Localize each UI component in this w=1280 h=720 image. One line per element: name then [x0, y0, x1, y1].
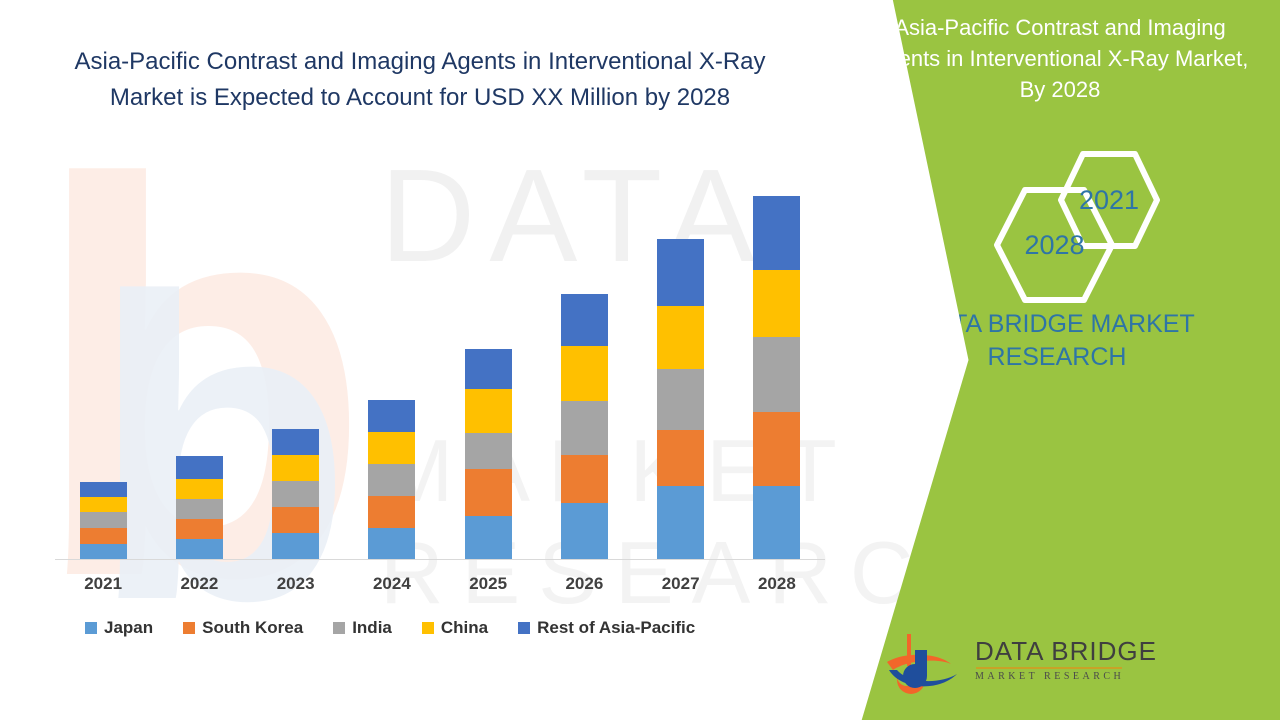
bar-segment-china[interactable] — [465, 389, 512, 433]
bar-group-2027 — [633, 161, 729, 560]
hexagon-group: 2021 2028 — [835, 150, 1280, 285]
stacked-bar[interactable] — [753, 196, 800, 560]
bar-group-2021 — [55, 161, 151, 560]
plot-area — [55, 160, 825, 560]
bar-segment-india[interactable] — [368, 464, 415, 496]
data-bridge-logo: DATA BRIDGE MARKET RESEARCH — [885, 630, 1115, 700]
stacked-bar[interactable] — [561, 294, 608, 560]
bar-segment-japan[interactable] — [561, 503, 608, 560]
bar-segment-india[interactable] — [272, 481, 319, 507]
stacked-bar[interactable] — [465, 349, 512, 560]
bar-group-2025 — [440, 161, 536, 560]
logo-divider — [976, 667, 1122, 669]
legend-item-india[interactable]: India — [333, 618, 392, 638]
bar-segment-india[interactable] — [561, 401, 608, 455]
stacked-bar[interactable] — [368, 400, 415, 560]
x-tick-2022: 2022 — [151, 574, 247, 594]
x-tick-2028: 2028 — [729, 574, 825, 594]
logo-text-block: DATA BRIDGE MARKET RESEARCH — [975, 636, 1125, 682]
bar-segment-india[interactable] — [753, 337, 800, 412]
bar-segment-china[interactable] — [753, 270, 800, 337]
bar-segment-china[interactable] — [272, 455, 319, 481]
legend-label: Japan — [104, 618, 153, 638]
bar-segment-india[interactable] — [176, 499, 223, 519]
bar-segment-rest-of-asia-pacific[interactable] — [561, 294, 608, 346]
legend-label: Rest of Asia-Pacific — [537, 618, 695, 638]
bar-group-2028 — [729, 161, 825, 560]
legend-swatch-icon — [183, 622, 195, 634]
legend-swatch-icon — [422, 622, 434, 634]
bar-segment-south-korea[interactable] — [368, 496, 415, 528]
chart-title: Asia-Pacific Contrast and Imaging Agents… — [60, 44, 780, 116]
stacked-bar[interactable] — [80, 482, 127, 560]
bar-segment-japan[interactable] — [80, 544, 127, 560]
panel-title: Asia-Pacific Contrast and Imaging Agents… — [860, 12, 1260, 105]
chart-legend: JapanSouth KoreaIndiaChinaRest of Asia-P… — [85, 615, 805, 641]
bar-segment-japan[interactable] — [272, 533, 319, 560]
legend-item-japan[interactable]: Japan — [85, 618, 153, 638]
bar-group-2026 — [536, 161, 632, 560]
logo-tagline: MARKET RESEARCH — [975, 671, 1125, 682]
legend-label: China — [441, 618, 488, 638]
x-axis-tick-labels: 20212022202320242025202620272028 — [55, 570, 825, 598]
bar-segment-china[interactable] — [561, 346, 608, 401]
bar-segment-rest-of-asia-pacific[interactable] — [80, 482, 127, 497]
stacked-bar[interactable] — [272, 429, 319, 560]
bar-segment-japan[interactable] — [368, 528, 415, 560]
bar-segment-japan[interactable] — [176, 539, 223, 560]
bar-group-2024 — [344, 161, 440, 560]
hexagon-2021-label: 2021 — [1079, 185, 1139, 216]
bar-segment-china[interactable] — [176, 479, 223, 499]
x-axis-line — [55, 559, 825, 560]
x-tick-2024: 2024 — [344, 574, 440, 594]
bar-segment-south-korea[interactable] — [657, 430, 704, 486]
x-tick-2026: 2026 — [536, 574, 632, 594]
bar-segment-india[interactable] — [80, 512, 127, 528]
legend-item-china[interactable]: China — [422, 618, 488, 638]
x-tick-2021: 2021 — [55, 574, 151, 594]
legend-item-rest-of-asia-pacific[interactable]: Rest of Asia-Pacific — [518, 618, 695, 638]
green-side-panel: Asia-Pacific Contrast and Imaging Agents… — [835, 0, 1280, 720]
bar-segment-rest-of-asia-pacific[interactable] — [176, 456, 223, 479]
legend-item-south-korea[interactable]: South Korea — [183, 618, 303, 638]
bar-group-2023 — [248, 161, 344, 560]
brand-name-text: DATA BRIDGE MARKET RESEARCH — [857, 308, 1257, 374]
bar-segment-south-korea[interactable] — [465, 469, 512, 516]
bar-segment-china[interactable] — [657, 306, 704, 369]
hexagon-2028-label: 2028 — [1024, 230, 1084, 261]
bar-segment-south-korea[interactable] — [176, 519, 223, 539]
legend-swatch-icon — [85, 622, 97, 634]
bar-segment-south-korea[interactable] — [561, 455, 608, 503]
bar-segment-south-korea[interactable] — [272, 507, 319, 533]
bar-segment-rest-of-asia-pacific[interactable] — [465, 349, 512, 389]
legend-swatch-icon — [333, 622, 345, 634]
stacked-bar[interactable] — [176, 456, 223, 560]
legend-swatch-icon — [518, 622, 530, 634]
bar-segment-rest-of-asia-pacific[interactable] — [753, 196, 800, 270]
bar-segment-rest-of-asia-pacific[interactable] — [368, 400, 415, 432]
stacked-bar[interactable] — [657, 239, 704, 560]
bar-segment-japan[interactable] — [753, 486, 800, 560]
x-tick-2023: 2023 — [248, 574, 344, 594]
bar-segment-south-korea[interactable] — [753, 412, 800, 486]
x-tick-2025: 2025 — [440, 574, 536, 594]
chart-panel: Asia-Pacific Contrast and Imaging Agents… — [0, 0, 870, 720]
bar-segment-india[interactable] — [657, 369, 704, 430]
x-tick-2027: 2027 — [633, 574, 729, 594]
bar-segment-japan[interactable] — [465, 516, 512, 560]
bar-segment-rest-of-asia-pacific[interactable] — [657, 239, 704, 306]
bar-series-container — [55, 161, 825, 560]
logo-name: DATA BRIDGE — [975, 636, 1125, 666]
bar-group-2022 — [151, 161, 247, 560]
bar-segment-rest-of-asia-pacific[interactable] — [272, 429, 319, 455]
bar-segment-south-korea[interactable] — [80, 528, 127, 544]
legend-label: India — [352, 618, 392, 638]
logo-mark-icon — [885, 632, 967, 694]
bar-segment-china[interactable] — [368, 432, 415, 464]
bar-segment-japan[interactable] — [657, 486, 704, 560]
bar-segment-china[interactable] — [80, 497, 127, 512]
legend-label: South Korea — [202, 618, 303, 638]
bar-segment-india[interactable] — [465, 433, 512, 469]
